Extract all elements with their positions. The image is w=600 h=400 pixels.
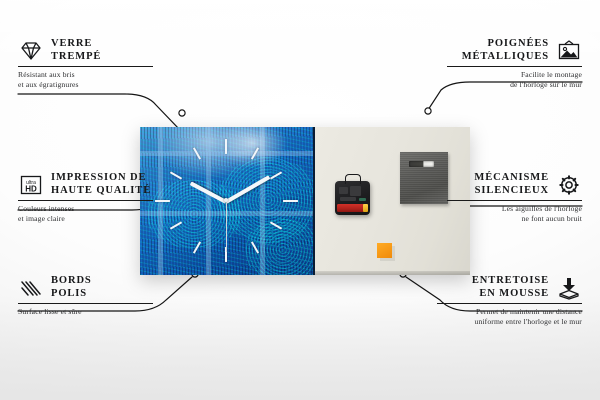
divider — [18, 200, 153, 201]
feature-title-line2: EN MOUSSE — [472, 288, 549, 301]
divider — [18, 66, 153, 67]
picture-hanger-icon — [556, 39, 582, 63]
marker-verre-trempe — [179, 110, 185, 116]
feature-impression-haute-qualite: ultra HD IMPRESSION DE HAUTE QUALITÉ Cou… — [18, 172, 153, 223]
feature-title-line1: VERRE — [51, 38, 101, 51]
feature-title-line1: MÉCANISME — [474, 172, 549, 185]
polished-edges-icon — [18, 276, 44, 300]
feature-entretoise-en-mousse: ENTRETOISE EN MOUSSE Permet de maintenir… — [437, 275, 582, 326]
quartz-movement-box — [335, 181, 370, 215]
keyhole-slot — [409, 161, 434, 167]
divider — [18, 303, 153, 304]
orange-foam-spacer — [377, 243, 392, 258]
feature-bords-polis: BORDS POLIS Surface lisse et sûre — [18, 275, 153, 317]
feature-poignees-metalliques: POIGNÉES MÉTALLIQUES Facilite le montage… — [447, 38, 582, 89]
battery — [337, 204, 366, 212]
marker-poignees — [425, 108, 431, 114]
foam-spacer-icon — [556, 276, 582, 300]
feature-title-line2: HAUTE QUALITÉ — [51, 185, 151, 198]
feature-verre-trempe: VERRE TREMPÉ Résistant aux bris et aux é… — [18, 38, 153, 89]
divider — [447, 200, 582, 201]
svg-text:HD: HD — [25, 184, 37, 193]
feature-subtitle: Permet de maintenir une distance uniform… — [437, 307, 582, 326]
clock-center-cap — [224, 198, 228, 202]
clock-face — [140, 127, 315, 275]
feature-subtitle: Couleurs intenses et image claire — [18, 204, 153, 223]
feature-subtitle: Facilite le montage de l'horloge sur le … — [447, 70, 582, 89]
diamond-icon — [18, 39, 44, 63]
connector-verre-trempe — [18, 94, 180, 130]
ultra-hd-icon: ultra HD — [18, 173, 44, 197]
clock-tick — [155, 200, 170, 202]
product-image — [140, 127, 470, 275]
feature-title-line2: POLIS — [51, 288, 92, 301]
divider — [447, 66, 582, 67]
feature-title-line2: TREMPÉ — [51, 51, 101, 64]
feature-title-line1: IMPRESSION DE — [51, 172, 151, 185]
feature-subtitle: Les aiguilles de l'horloge ne font aucun… — [447, 204, 582, 223]
feature-title-line1: ENTRETOISE — [472, 275, 549, 288]
gear-icon — [556, 173, 582, 197]
hanging-loop — [345, 174, 361, 184]
divider — [437, 303, 582, 304]
feature-title-line1: BORDS — [51, 275, 92, 288]
infographic-canvas: VERRE TREMPÉ Résistant aux bris et aux é… — [0, 0, 600, 400]
feature-title-line1: POIGNÉES — [462, 38, 549, 51]
metal-hanging-plate — [400, 152, 448, 204]
feature-title-line2: MÉTALLIQUES — [462, 51, 549, 64]
clock-tick — [283, 200, 298, 202]
clock-tick — [170, 171, 182, 179]
clock-second-hand — [226, 200, 227, 252]
feature-mecanisme-silencieux: MÉCANISME SILENCIEUX — [447, 172, 582, 223]
clock-tick — [225, 139, 227, 154]
feature-subtitle: Surface lisse et sûre — [18, 307, 153, 317]
feature-subtitle: Résistant aux bris et aux égratignures — [18, 70, 153, 89]
feature-title-line2: SILENCIEUX — [474, 185, 549, 198]
battery-plus-terminal — [363, 204, 368, 212]
